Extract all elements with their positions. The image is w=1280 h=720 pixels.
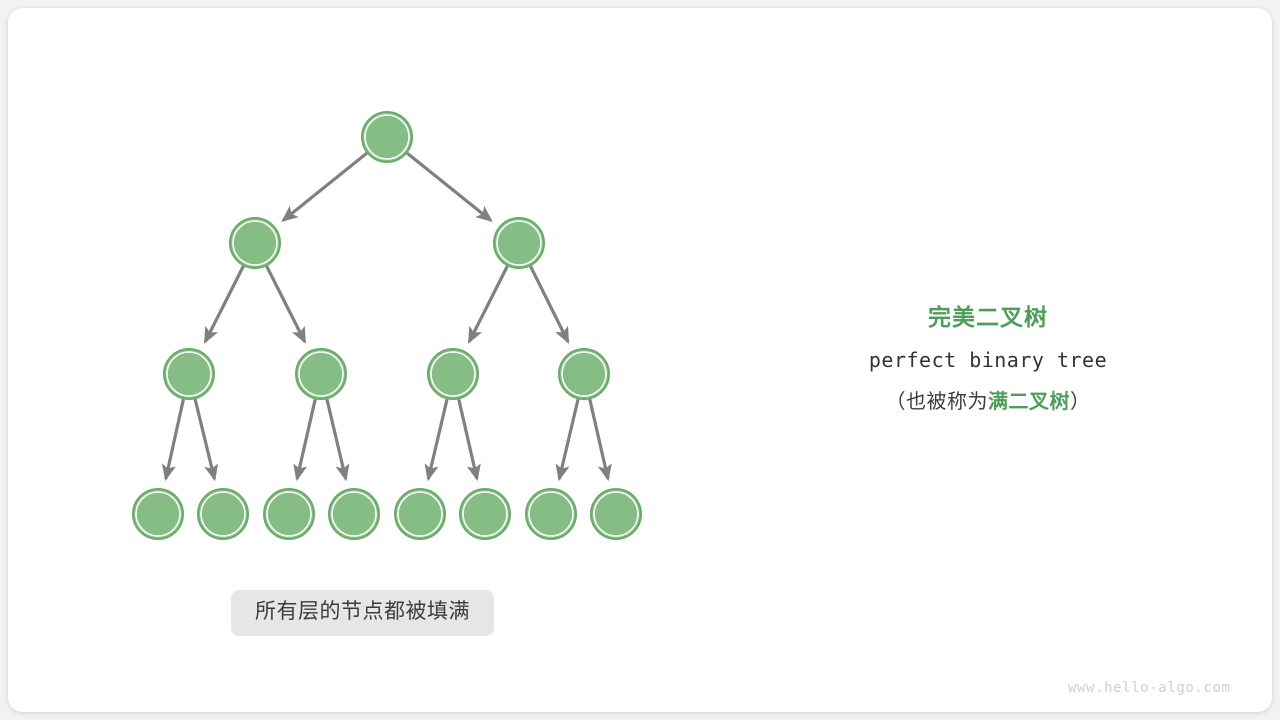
legend-alt-prefix: （也被称为 xyxy=(886,391,989,413)
legend-title: 完美二叉树 xyxy=(798,302,1178,332)
tree-node xyxy=(198,489,248,539)
tree-node xyxy=(591,489,641,539)
tree-node-inner-ring xyxy=(562,352,606,396)
tree-node xyxy=(264,489,314,539)
caption-badge: 所有层的节点都被填满 xyxy=(231,590,494,636)
tree-node-inner-ring xyxy=(594,492,638,536)
tree-node-inner-ring xyxy=(136,492,180,536)
tree-node xyxy=(428,349,478,399)
tree-node xyxy=(164,349,214,399)
tree-edge xyxy=(428,399,447,479)
tree-node xyxy=(329,489,379,539)
tree-node-inner-ring xyxy=(201,492,245,536)
caption-text: 所有层的节点都被填满 xyxy=(255,600,470,623)
tree-edge xyxy=(297,399,315,479)
tree-node-inner-ring xyxy=(463,492,507,536)
tree-node xyxy=(133,489,183,539)
tree-node xyxy=(362,112,412,162)
tree-node xyxy=(460,489,510,539)
tree-node xyxy=(494,218,544,268)
tree-edge xyxy=(590,399,608,479)
tree-node-inner-ring xyxy=(332,492,376,536)
legend-alternate-name: （也被称为满二叉树） xyxy=(798,388,1178,416)
tree-node-inner-ring xyxy=(431,352,475,396)
legend-alt-accent: 满二叉树 xyxy=(988,391,1070,413)
tree-edge xyxy=(195,399,214,479)
screenshot-root: 所有层的节点都被填满 完美二叉树 perfect binary tree （也被… xyxy=(0,0,1280,720)
diagram-card: 所有层的节点都被填满 完美二叉树 perfect binary tree （也被… xyxy=(8,8,1272,712)
legend-alt-suffix: ） xyxy=(1070,391,1091,413)
tree-node xyxy=(395,489,445,539)
tree-node xyxy=(559,349,609,399)
tree-edge xyxy=(559,399,578,479)
watermark: www.hello-algo.com xyxy=(1068,680,1231,696)
tree-node-inner-ring xyxy=(267,492,311,536)
tree-node xyxy=(526,489,576,539)
tree-edges xyxy=(166,153,608,479)
tree-edge xyxy=(267,266,305,342)
tree-edge xyxy=(531,266,568,341)
legend-subtitle: perfect binary tree xyxy=(798,346,1178,374)
tree-node-inner-ring xyxy=(167,352,211,396)
tree-edge xyxy=(327,399,346,479)
tree-edge xyxy=(205,266,243,342)
tree-node-inner-ring xyxy=(398,492,442,536)
tree-node-inner-ring xyxy=(529,492,573,536)
tree-node xyxy=(296,349,346,399)
tree-nodes xyxy=(133,112,641,539)
tree-edge xyxy=(459,399,477,479)
tree-node xyxy=(230,218,280,268)
tree-node-inner-ring xyxy=(365,115,409,159)
tree-edge xyxy=(283,153,367,220)
tree-edge xyxy=(166,399,184,478)
tree-node-inner-ring xyxy=(233,221,277,265)
legend-block: 完美二叉树 perfect binary tree （也被称为满二叉树） xyxy=(798,302,1178,416)
tree-edge xyxy=(407,153,491,220)
tree-node-inner-ring xyxy=(497,221,541,265)
tree-node-inner-ring xyxy=(299,352,343,396)
tree-edge xyxy=(469,266,507,342)
